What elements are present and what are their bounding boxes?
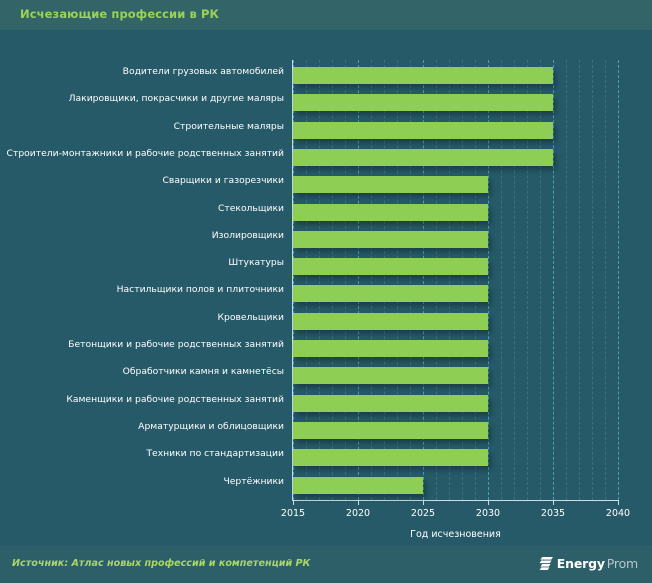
logo-energy-text: Energy bbox=[557, 556, 605, 571]
x-tick-label: 2015 bbox=[263, 508, 323, 519]
category-label: Арматурщики и облицовщики bbox=[138, 421, 284, 432]
category-label: Строители-монтажники и рабочие родственн… bbox=[7, 148, 284, 159]
category-label: Каменщики и рабочие родственных занятий bbox=[66, 394, 284, 405]
x-tick-mark bbox=[553, 500, 554, 505]
bar[interactable] bbox=[293, 258, 488, 275]
bar-row[interactable]: Лакировщики, покрасчики и другие маляры bbox=[293, 89, 618, 116]
category-label: Стекольщики bbox=[218, 203, 284, 214]
x-tick-mark bbox=[423, 500, 424, 505]
category-label: Настильщики полов и плиточники bbox=[117, 284, 284, 295]
bar[interactable] bbox=[293, 204, 488, 221]
x-tick-label: 2035 bbox=[523, 508, 583, 519]
bar-row[interactable]: Обработчики камня и камнетёсы bbox=[293, 362, 618, 389]
category-label: Лакировщики, покрасчики и другие маляры bbox=[69, 93, 284, 104]
bar-row[interactable]: Бетонщики и рабочие родственных занятий bbox=[293, 335, 618, 362]
brand-logo: EnergyProm bbox=[539, 556, 638, 571]
x-axis-line bbox=[292, 500, 619, 501]
x-tick-mark bbox=[293, 500, 294, 505]
energyprom-logo-icon bbox=[539, 557, 553, 570]
chart-area: Водители грузовых автомобилейЛакировщики… bbox=[0, 30, 652, 540]
bar-row[interactable]: Настильщики полов и плиточники bbox=[293, 280, 618, 307]
bar[interactable] bbox=[293, 67, 553, 84]
gridline-major bbox=[618, 60, 619, 500]
bar-row[interactable]: Кровельщики bbox=[293, 308, 618, 335]
source-note: Источник: Атлас новых профессий и компет… bbox=[12, 558, 310, 569]
category-label: Штукатуры bbox=[228, 257, 284, 268]
bar[interactable] bbox=[293, 285, 488, 302]
x-tick-mark bbox=[488, 500, 489, 505]
category-label: Кровельщики bbox=[218, 312, 284, 323]
x-axis-label: Год исчезновения bbox=[293, 529, 618, 540]
page-title: Исчезающие профессии в РК bbox=[20, 7, 219, 21]
x-tick-label: 2025 bbox=[393, 508, 453, 519]
category-label: Бетонщики и рабочие родственных занятий bbox=[68, 339, 284, 350]
bar[interactable] bbox=[293, 122, 553, 139]
bar-row[interactable]: Изолировщики bbox=[293, 226, 618, 253]
x-tick-mark bbox=[358, 500, 359, 505]
bar-row[interactable]: Техники по стандартизации bbox=[293, 444, 618, 471]
category-label: Чертёжники bbox=[223, 476, 284, 487]
category-label: Сварщики и газорезчики bbox=[162, 175, 284, 186]
plot-bars: Водители грузовых автомобилейЛакировщики… bbox=[293, 62, 618, 498]
bar[interactable] bbox=[293, 340, 488, 357]
bar[interactable] bbox=[293, 422, 488, 439]
bar-row[interactable]: Арматурщики и облицовщики bbox=[293, 417, 618, 444]
bar-row[interactable]: Строители-монтажники и рабочие родственн… bbox=[293, 144, 618, 171]
bar-row[interactable]: Водители грузовых автомобилей bbox=[293, 62, 618, 89]
bar[interactable] bbox=[293, 149, 553, 166]
bar-row[interactable]: Чертёжники bbox=[293, 472, 618, 499]
x-tick-label: 2030 bbox=[458, 508, 518, 519]
bar-row[interactable]: Каменщики и рабочие родственных занятий bbox=[293, 390, 618, 417]
category-label: Изолировщики bbox=[212, 230, 284, 241]
category-label: Строительные маляры bbox=[174, 121, 284, 132]
bar[interactable] bbox=[293, 367, 488, 384]
x-tick-mark bbox=[618, 500, 619, 505]
x-tick-label: 2020 bbox=[328, 508, 388, 519]
bar[interactable] bbox=[293, 94, 553, 111]
category-label: Водители грузовых автомобилей bbox=[123, 66, 284, 77]
bar[interactable] bbox=[293, 313, 488, 330]
bar-row[interactable]: Стекольщики bbox=[293, 199, 618, 226]
category-label: Техники по стандартизации bbox=[146, 448, 284, 459]
category-label: Обработчики камня и камнетёсы bbox=[123, 366, 284, 377]
x-tick-label: 2040 bbox=[588, 508, 648, 519]
bar[interactable] bbox=[293, 477, 423, 494]
bar[interactable] bbox=[293, 449, 488, 466]
bar[interactable] bbox=[293, 231, 488, 248]
bar[interactable] bbox=[293, 176, 488, 193]
bar[interactable] bbox=[293, 395, 488, 412]
bar-row[interactable]: Сварщики и газорезчики bbox=[293, 171, 618, 198]
bar-row[interactable]: Штукатуры bbox=[293, 253, 618, 280]
logo-prom-text: Prom bbox=[607, 556, 638, 571]
bar-row[interactable]: Строительные маляры bbox=[293, 117, 618, 144]
